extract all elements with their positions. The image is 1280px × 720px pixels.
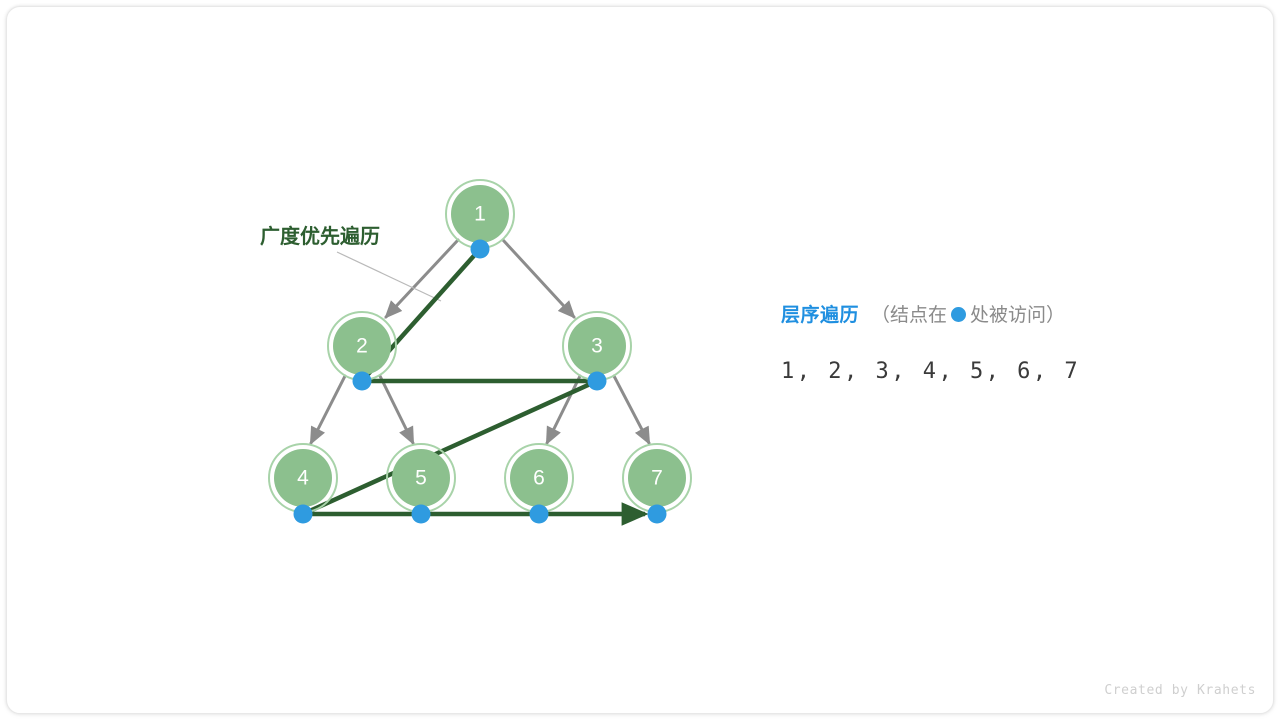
node-label: 4 [297, 467, 309, 490]
visit-dot [353, 372, 372, 391]
node-label: 1 [474, 203, 486, 226]
visit-dot [471, 240, 490, 259]
node-label: 2 [356, 335, 368, 358]
visit-dot-icon [951, 307, 966, 322]
node-label: 3 [591, 335, 603, 358]
diagram-canvas: 1 2 3 4 [0, 0, 1280, 720]
legend-note-suffix: 处被访问） [970, 300, 1065, 327]
credit-text: Created by Krahets [1104, 683, 1256, 698]
visit-dot [530, 505, 549, 524]
legend-heading-row: 层序遍历 （结点在 处被访问） [781, 300, 1221, 327]
tree-edge-2-4 [311, 376, 345, 443]
legend-title: 层序遍历 [781, 300, 859, 327]
legend-note-prefix: （结点在 [871, 300, 947, 327]
node-label: 6 [533, 467, 545, 490]
tree-node-6[interactable]: 6 [505, 444, 573, 524]
tree-node-1[interactable]: 1 [446, 180, 514, 259]
node-label: 5 [415, 467, 427, 490]
tree-edge-3-6 [547, 376, 580, 443]
tree-edge-1-3 [503, 240, 574, 317]
visit-dot [412, 505, 431, 524]
tree-node-5[interactable]: 5 [387, 444, 455, 524]
traversal-sequence: 1, 2, 3, 4, 5, 6, 7 [781, 359, 1221, 384]
tree-node-4[interactable]: 4 [269, 444, 337, 524]
visit-dot [648, 505, 667, 524]
visit-dot [294, 505, 313, 524]
tree-node-7[interactable]: 7 [623, 444, 691, 524]
legend-note: （结点在 处被访问） [871, 300, 1065, 327]
visit-dot [588, 372, 607, 391]
tree-edge-1-2 [386, 240, 458, 317]
node-label: 7 [651, 467, 663, 490]
tree-edge-3-7 [614, 376, 649, 443]
legend-panel: 层序遍历 （结点在 处被访问） 1, 2, 3, 4, 5, 6, 7 [781, 300, 1221, 384]
tree-node-2[interactable]: 2 [328, 312, 396, 391]
tree-node-3[interactable]: 3 [563, 312, 631, 391]
tree-edge-2-5 [380, 376, 413, 443]
bfs-annotation-label: 广度优先遍历 [260, 224, 380, 248]
